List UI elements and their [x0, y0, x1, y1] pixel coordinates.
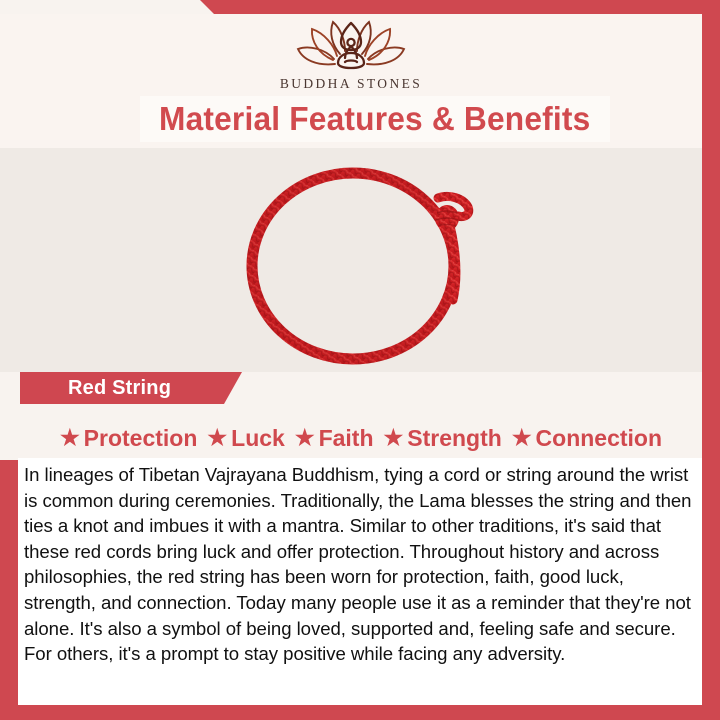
star-icon: ★	[512, 427, 532, 449]
star-icon: ★	[295, 427, 315, 449]
frame-bottom-bar	[0, 705, 720, 720]
product-tag: Red String	[20, 372, 242, 404]
description-panel: In lineages of Tibetan Vajrayana Buddhis…	[18, 458, 702, 705]
star-icon: ★	[384, 427, 404, 449]
benefit-label: Luck	[231, 425, 285, 452]
benefit-item-luck: ★ Luck	[202, 425, 289, 452]
title-banner: Material Features & Benefits	[140, 96, 610, 142]
benefit-item-faith: ★ Faith	[290, 425, 379, 452]
frame-right-bar	[702, 14, 720, 720]
brand-name: BUDDHA STONES	[280, 76, 422, 92]
star-icon: ★	[207, 427, 227, 449]
star-icon: ★	[60, 427, 80, 449]
lotus-meditation-icon	[295, 18, 407, 74]
benefit-label: Faith	[319, 425, 374, 452]
infographic-page: BUDDHA STONES Material Features & Benefi…	[0, 0, 720, 720]
benefit-label: Connection	[536, 425, 663, 452]
product-image-red-string-bracelet	[232, 158, 494, 370]
product-tag-label: Red String	[68, 377, 171, 400]
description-paragraph: In lineages of Tibetan Vajrayana Buddhis…	[24, 462, 692, 667]
benefit-label: Strength	[407, 425, 502, 452]
benefit-item-protection: ★ Protection	[55, 425, 202, 452]
benefit-item-strength: ★ Strength	[379, 425, 507, 452]
benefit-item-connection: ★ Connection	[507, 425, 667, 452]
page-title: Material Features & Benefits	[159, 100, 590, 138]
benefits-row: ★ Protection ★ Luck ★ Faith ★ Strength ★…	[20, 420, 702, 456]
benefit-label: Protection	[84, 425, 198, 452]
brand-logo: BUDDHA STONES	[0, 18, 702, 92]
